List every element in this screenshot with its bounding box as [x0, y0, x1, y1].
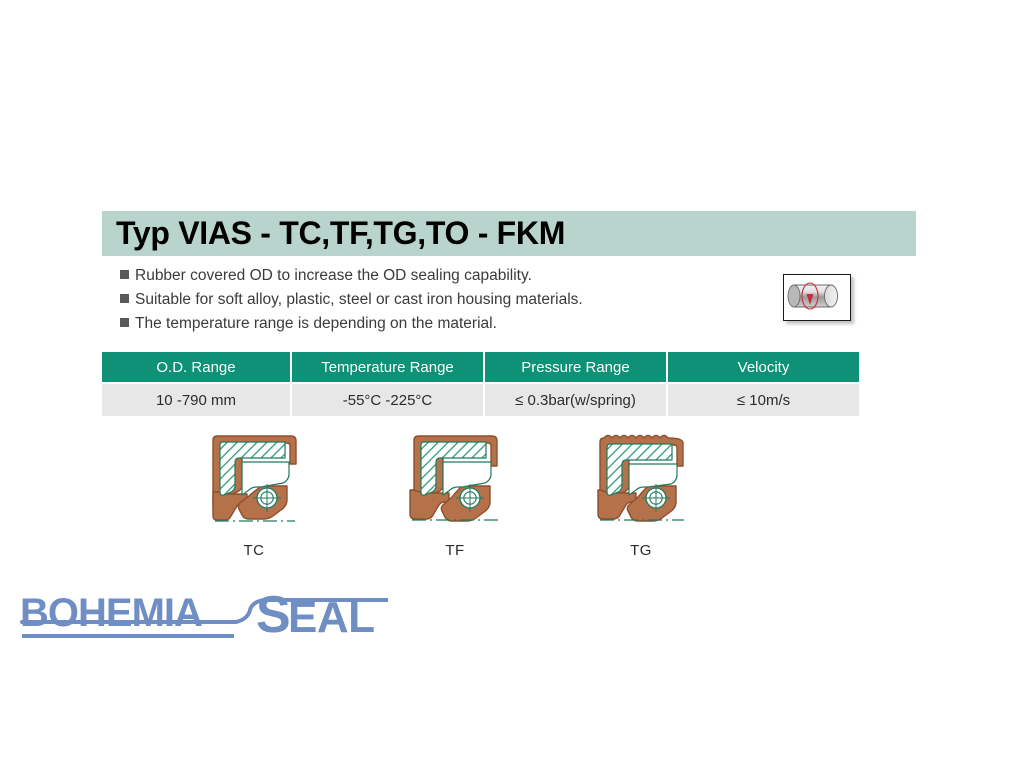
column-header-velocity: Velocity — [668, 352, 859, 382]
column-header-od-range: O.D. Range — [102, 352, 292, 382]
rotating-shaft-svg — [784, 275, 847, 317]
cell-od-range: 10 -790 mm — [102, 382, 292, 416]
rotating-shaft-icon — [783, 274, 851, 321]
specification-table: O.D. Range Temperature Range Pressure Ra… — [102, 352, 859, 416]
seal-label-tf: TF — [400, 542, 510, 559]
seal-label-tc: TC — [199, 542, 309, 559]
title-banner: Typ VIAS - TC,TF,TG,TO - FKM — [102, 211, 916, 256]
page-title: Typ VIAS - TC,TF,TG,TO - FKM — [102, 215, 565, 252]
logo-word-bohemia: BOHEMIA — [20, 591, 202, 635]
seal-cross-section-tc-svg — [199, 430, 309, 535]
feature-text: Suitable for soft alloy, plastic, steel … — [135, 290, 583, 310]
seal-figure-tc: TC — [199, 430, 309, 559]
feature-text: The temperature range is depending on th… — [135, 314, 497, 334]
list-item: Rubber covered OD to increase the OD sea… — [120, 266, 740, 290]
cell-pressure-range: ≤ 0.3bar(w/spring) — [485, 382, 668, 416]
square-bullet-icon — [120, 318, 129, 327]
table-row: 10 -790 mm -55°C -225°C ≤ 0.3bar(w/sprin… — [102, 382, 859, 416]
logo-letter-s: S — [256, 586, 291, 642]
feature-text: Rubber covered OD to increase the OD sea… — [135, 266, 532, 286]
list-item: Suitable for soft alloy, plastic, steel … — [120, 290, 740, 314]
seal-figure-tg: TG — [586, 430, 696, 559]
column-header-pressure-range: Pressure Range — [485, 352, 668, 382]
list-item: The temperature range is depending on th… — [120, 314, 740, 338]
cell-velocity: ≤ 10m/s — [668, 382, 859, 416]
column-header-temperature-range: Temperature Range — [292, 352, 485, 382]
feature-list: Rubber covered OD to increase the OD sea… — [120, 266, 740, 338]
seal-cross-section-tf-svg — [400, 430, 510, 535]
seal-cross-section-tg-svg — [586, 430, 696, 535]
square-bullet-icon — [120, 294, 129, 303]
seal-diagram-row: TC TF — [0, 430, 1024, 570]
company-logo: BOHEMIA S EAL — [16, 586, 396, 642]
square-bullet-icon — [120, 270, 129, 279]
seal-figure-tf: TF — [400, 430, 510, 559]
cell-temperature-range: -55°C -225°C — [292, 382, 485, 416]
seal-label-tg: TG — [586, 542, 696, 559]
table-header-row: O.D. Range Temperature Range Pressure Ra… — [102, 352, 859, 382]
bohemia-seal-logo-svg: BOHEMIA S EAL — [16, 586, 396, 642]
